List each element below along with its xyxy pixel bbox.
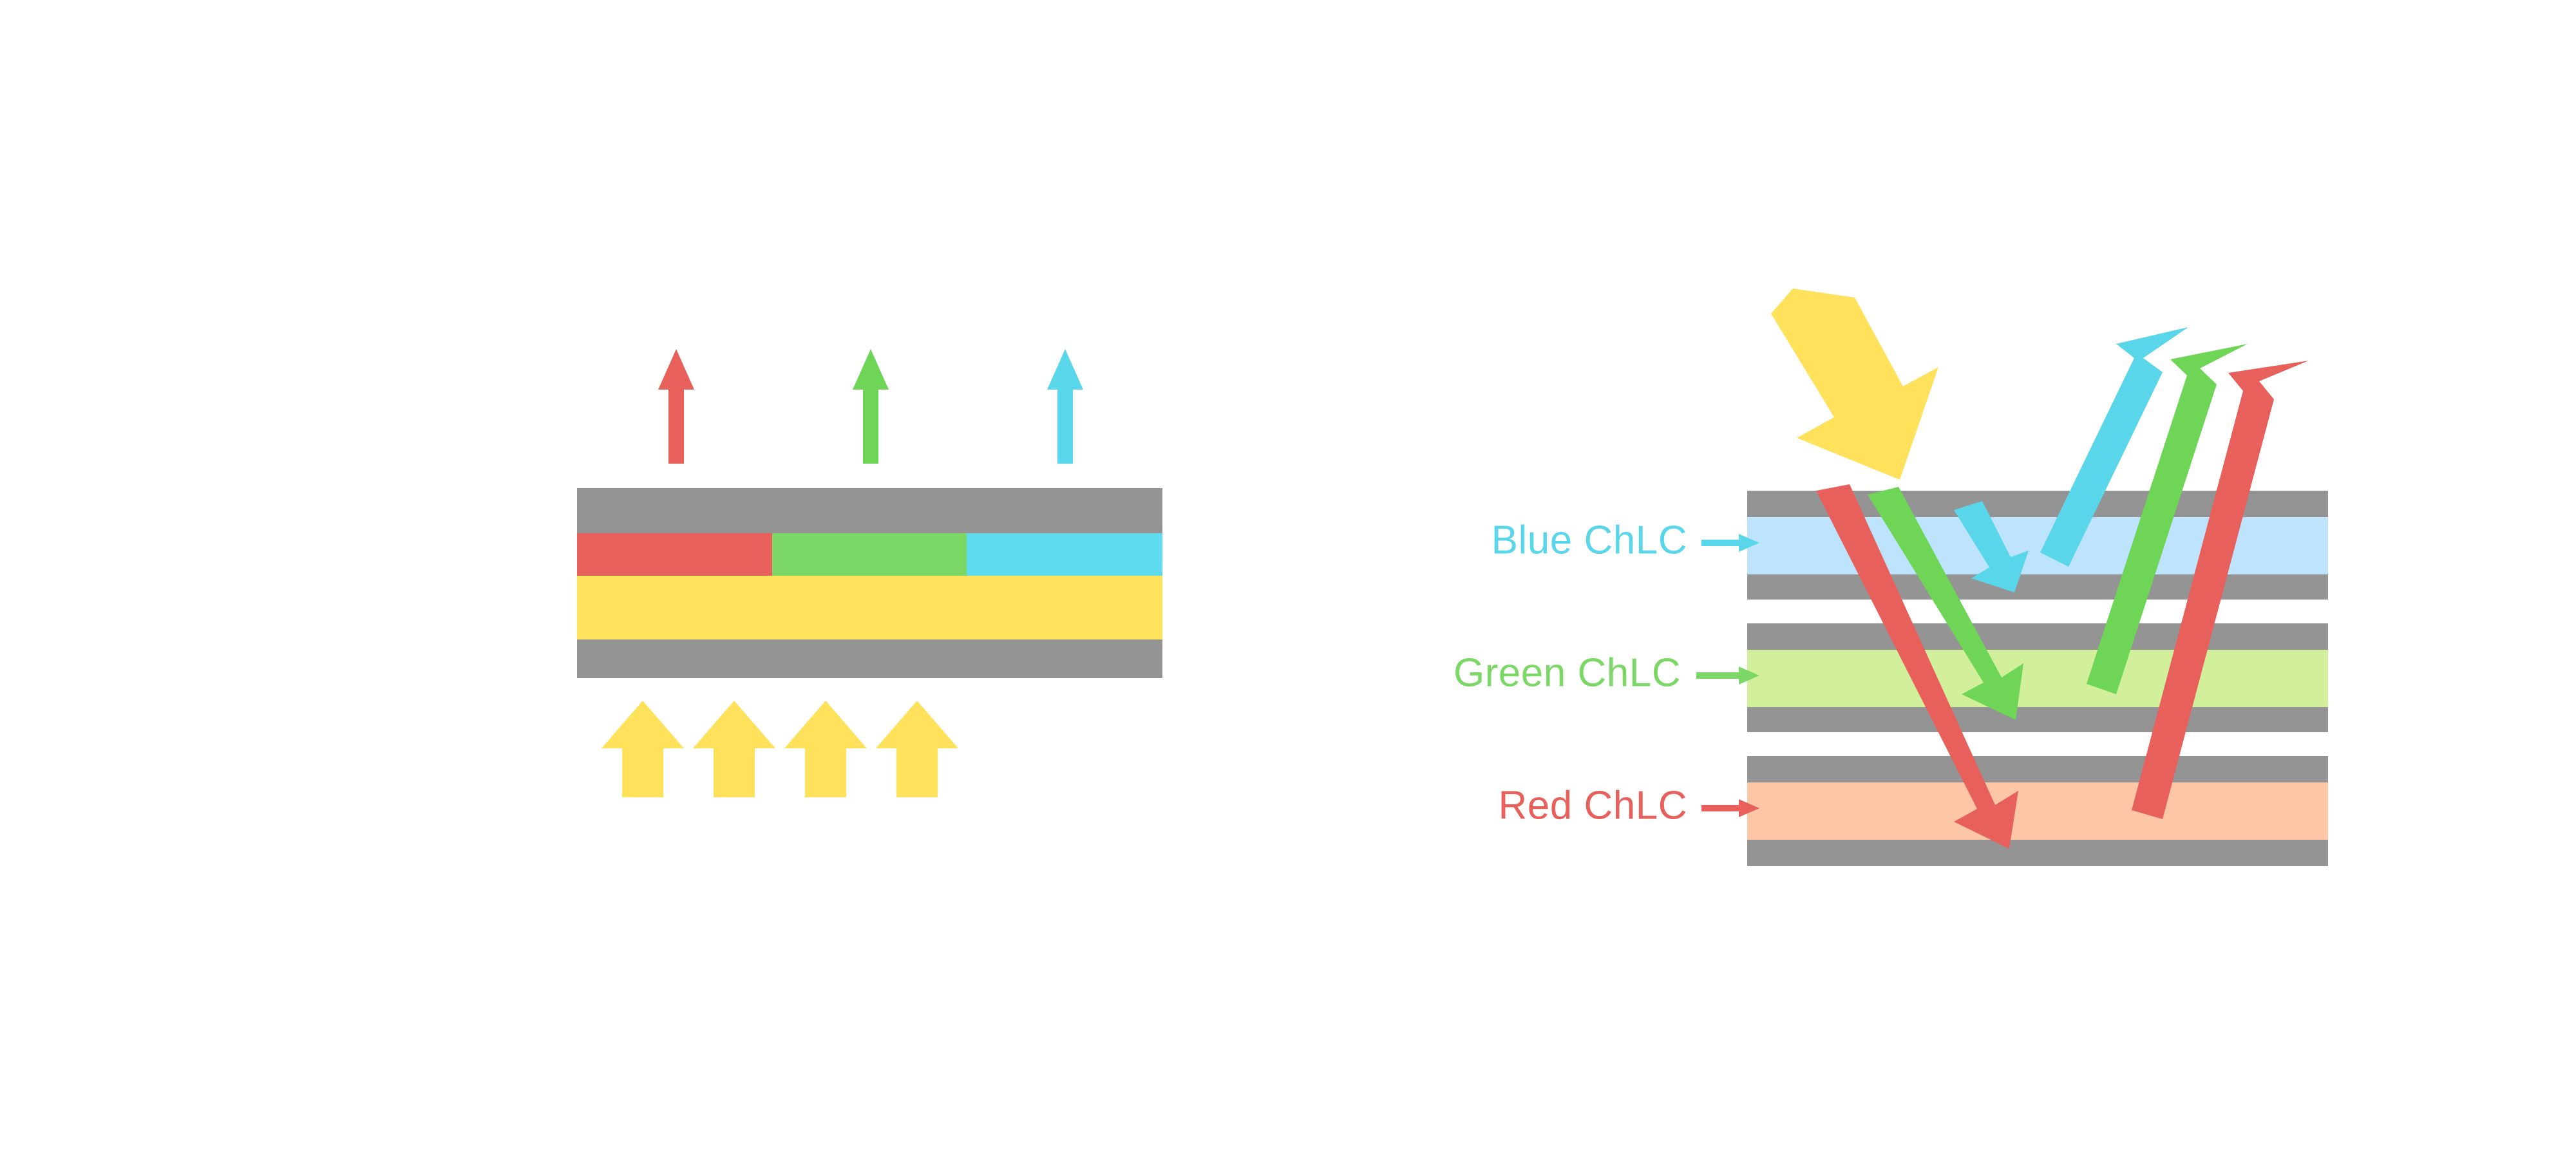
emissive-stack-panel: [577, 349, 1162, 797]
red-filter-segment: [577, 533, 772, 576]
emissive-layer-stack: [577, 488, 1162, 678]
blue-chlc-label-group: Blue ChLC: [1492, 518, 1759, 562]
green-chlc-cell: [1747, 623, 2328, 732]
green-cell-top-substrate: [1747, 623, 2328, 650]
red-cell-top-substrate: [1747, 756, 2328, 782]
backlight-ray-3-icon: [784, 701, 867, 797]
emissive-bottom-substrate: [577, 639, 1162, 678]
reflective-stack-panel: Blue ChLC Green ChLC Red ChLC: [1454, 288, 2328, 866]
red-chlc-label: Red ChLC: [1499, 783, 1687, 828]
backlight-rays-group: [601, 701, 958, 797]
backlight-ray-4-icon: [876, 701, 958, 797]
red-chlc-label-group: Red ChLC: [1499, 783, 1759, 828]
emissive-top-substrate: [577, 488, 1162, 533]
backlight-layer: [577, 576, 1162, 639]
red-chlc-cell: [1747, 756, 2328, 866]
blue-cell-bottom-substrate: [1747, 574, 2328, 600]
backlight-ray-2-icon: [693, 701, 775, 797]
green-chlc-label: Green ChLC: [1454, 650, 1681, 695]
green-cell-bottom-substrate: [1747, 707, 2328, 732]
blue-emitted-ray-icon: [1047, 349, 1083, 464]
green-chlc-layer: [1747, 650, 2328, 707]
green-filter-segment: [772, 533, 967, 576]
blue-filter-segment: [967, 533, 1162, 576]
red-cell-bottom-substrate: [1747, 840, 2328, 866]
red-chlc-layer: [1747, 782, 2328, 840]
emitted-rays-group: [658, 349, 1083, 464]
green-chlc-label-group: Green ChLC: [1454, 650, 1759, 695]
red-emitted-ray-icon: [658, 349, 694, 464]
green-emitted-ray-icon: [853, 349, 889, 464]
backlight-ray-1-icon: [601, 701, 684, 797]
diagram-canvas: Blue ChLC Green ChLC Red ChLC: [0, 0, 2576, 1154]
white-light-incident-ray-icon: [1771, 288, 1938, 480]
chlc-labels-group: Blue ChLC Green ChLC Red ChLC: [1454, 518, 1759, 828]
chlc-display-diagram: Blue ChLC Green ChLC Red ChLC: [0, 0, 2576, 1154]
blue-chlc-label: Blue ChLC: [1492, 518, 1687, 562]
